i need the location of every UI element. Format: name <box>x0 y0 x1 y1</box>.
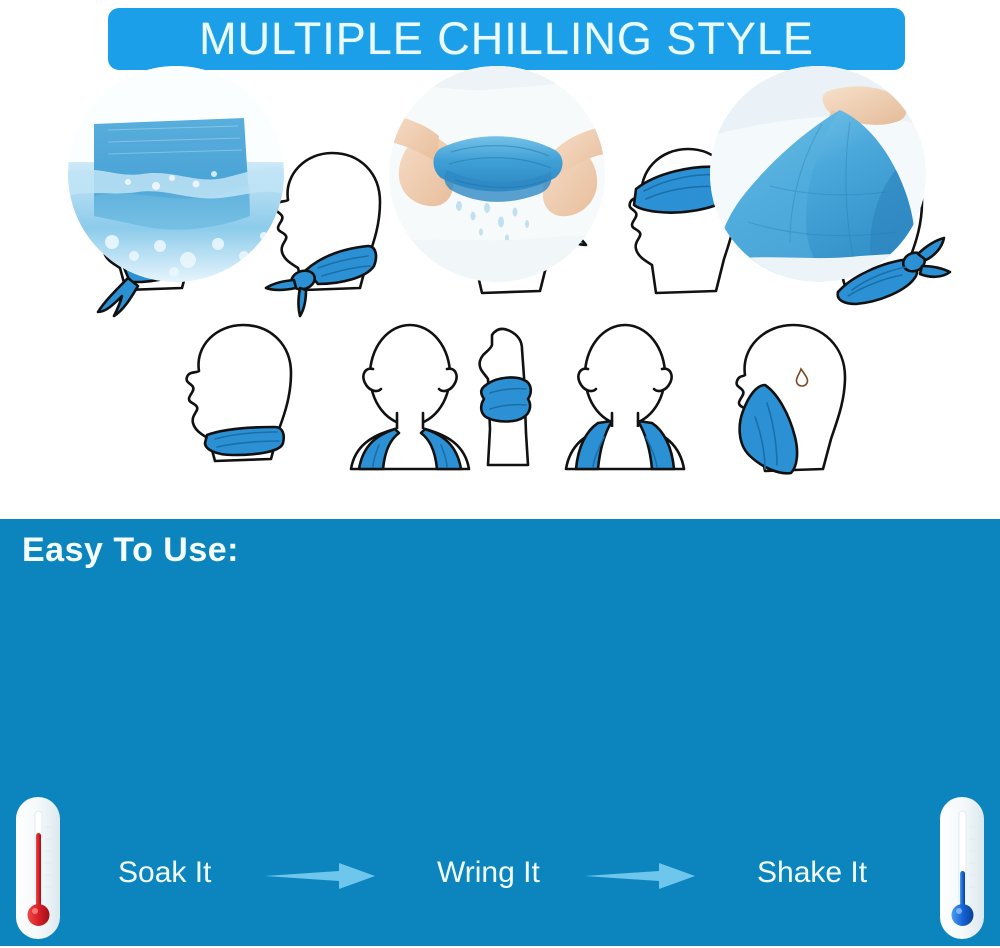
step-arrow-2-icon <box>585 863 695 889</box>
step-caption-soak: Soak It <box>118 856 211 890</box>
step-photo-shake <box>710 66 926 282</box>
step-caption-shake: Shake It <box>757 856 867 890</box>
style-wrist-forearm-wrap <box>470 323 542 475</box>
step-arrow-1-icon <box>265 863 375 889</box>
thermometer-cold-icon <box>934 793 990 943</box>
style-shoulders-towel-front <box>550 317 700 477</box>
thermometer-hot-icon <box>10 793 66 943</box>
title-banner: MULTIPLE CHILLING STYLE <box>108 8 905 70</box>
style-shoulders-drape-front <box>335 317 485 477</box>
page-title: MULTIPLE CHILLING STYLE <box>199 13 814 65</box>
step-photo-wring <box>389 66 605 282</box>
style-face-cheek-wipe <box>705 317 880 482</box>
step-caption-wring: Wring It <box>437 856 540 890</box>
step-photo-soak <box>68 66 284 282</box>
style-neck-collar-wrap <box>165 317 325 477</box>
easy-to-use-heading: Easy To Use: <box>22 531 239 570</box>
